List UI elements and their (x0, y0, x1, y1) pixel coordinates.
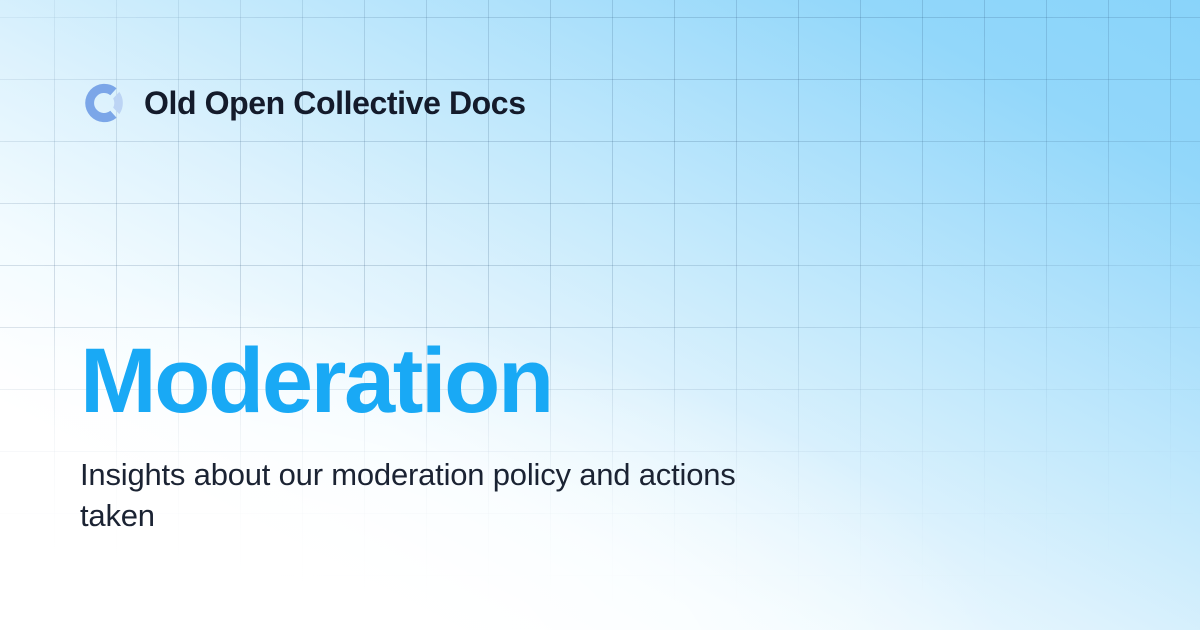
brand-name: Old Open Collective Docs (144, 87, 526, 119)
page-subtitle: Insights about our moderation policy and… (80, 455, 760, 537)
page-title: Moderation (80, 335, 900, 427)
card-content: Old Open Collective Docs Moderation Insi… (0, 0, 1200, 630)
open-collective-donut-icon (80, 80, 126, 126)
hero-text-block: Moderation Insights about our moderation… (80, 335, 900, 537)
brand-header: Old Open Collective Docs (80, 78, 526, 128)
og-card: Old Open Collective Docs Moderation Insi… (0, 0, 1200, 630)
